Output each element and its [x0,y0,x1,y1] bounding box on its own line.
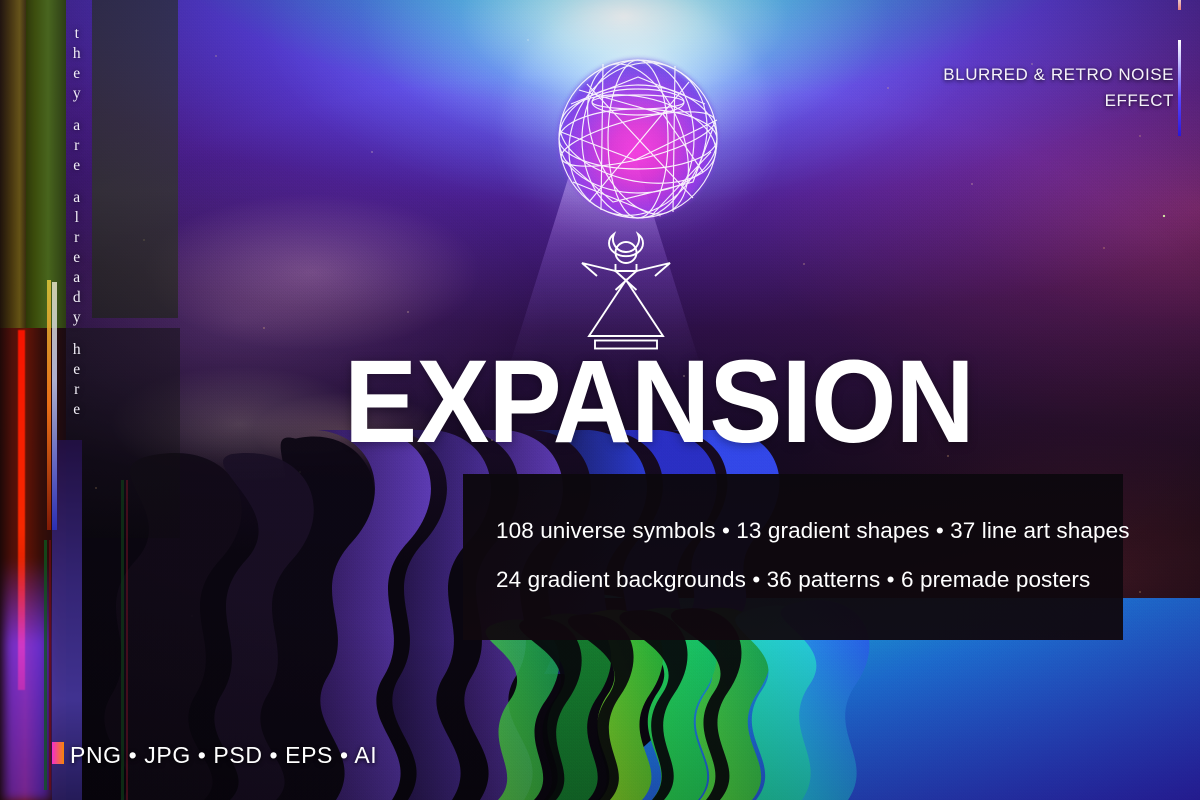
glitch-thin-amber [47,280,51,530]
page-title: EXPANSION [344,352,874,452]
file-formats-list: PNG • JPG • PSD • EPS • AI [70,742,377,769]
glitch-green-block [92,0,178,318]
tagline-char: a [62,190,92,210]
tagline-char: e [62,66,92,86]
vertical-tagline: t h e y a r e a l r e a d y h e r e [62,26,92,422]
tagline-char: e [62,402,92,422]
glitch-green-stripe [26,0,66,328]
tagline-char: y [62,86,92,106]
tagline-char: r [62,138,92,158]
glitch-magenta-chip [52,742,64,764]
poster-canvas: t h e y a r e a l r e a d y h e r e BLUR… [0,0,1200,800]
glitch-thin-white [52,282,57,530]
tagline-char: l [62,210,92,230]
tagline-char: a [62,270,92,290]
info-panel: 108 universe symbols • 13 gradient shape… [463,474,1123,640]
wireframe-sphere-icon [543,42,733,232]
tagline-char: r [62,382,92,402]
info-line-1: 108 universe symbols • 13 gradient shape… [496,518,1130,544]
tagline-char: d [62,290,92,310]
tagline-char: e [62,158,92,178]
goddess-line-art-icon [562,218,690,352]
tagline-char: e [62,362,92,382]
tagline-char: a [62,118,92,138]
accent-line-top [1178,0,1181,10]
crescent-moon-icon [609,234,643,256]
glitch-olive-stripe [0,0,28,328]
corner-note-line-1: BLURRED & RETRO NOISE [754,62,1174,88]
tagline-char: h [62,46,92,66]
tagline-char: r [62,230,92,250]
tagline-char: t [62,26,92,46]
info-line-2: 24 gradient backgrounds • 36 patterns • … [496,567,1090,593]
sphere-wireframe-lines [543,42,733,232]
tagline-char: e [62,250,92,270]
corner-note: BLURRED & RETRO NOISE EFFECT [754,62,1174,115]
glitch-thin-maroon [49,540,51,790]
accent-line-blue [1178,40,1181,136]
tagline-char: h [62,342,92,362]
corner-note-line-2: EFFECT [754,88,1174,114]
tagline-char: y [62,310,92,330]
glitch-thin-green [44,540,47,790]
